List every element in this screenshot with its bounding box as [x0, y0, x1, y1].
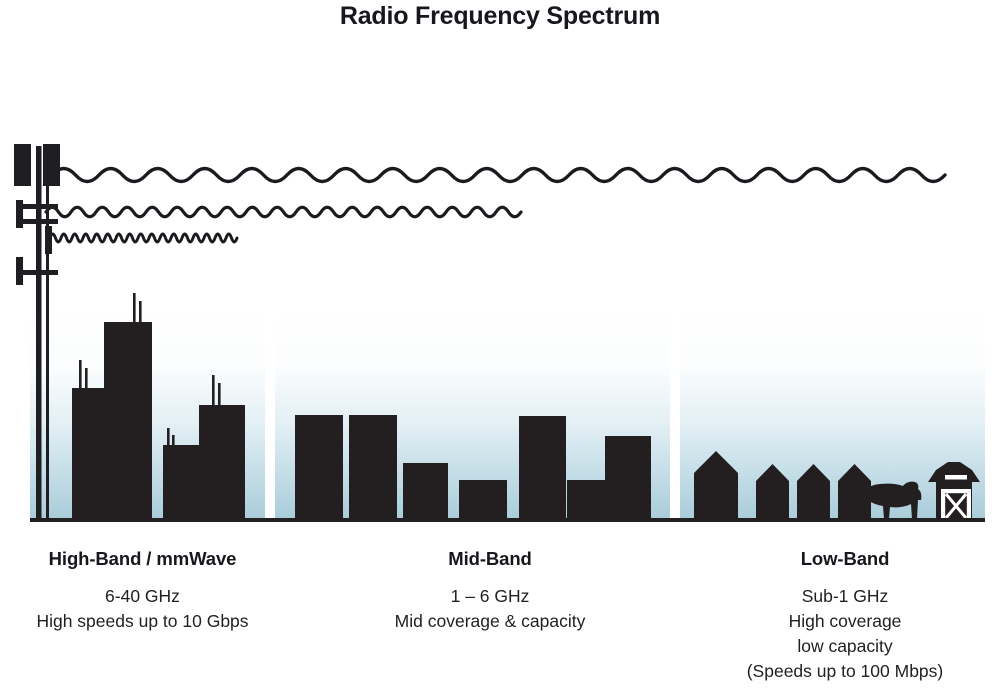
tower-mast-secondary: [46, 146, 49, 518]
building: [519, 416, 566, 520]
building: [459, 480, 507, 520]
building: [295, 415, 343, 520]
building: [567, 480, 609, 520]
rf-spectrum-infographic: Radio Frequency Spectrum: [0, 0, 1000, 700]
band-title-high: High-Band / mmWave: [0, 548, 285, 570]
band-column-mid: Mid-Band 1 – 6 GHz Mid coverage & capaci…: [345, 548, 635, 634]
tower-antenna-panel-3: [16, 200, 23, 228]
band-line: 6-40 GHz: [0, 584, 285, 609]
band-column-high: High-Band / mmWave 6-40 GHz High speeds …: [0, 548, 285, 634]
band-line: low capacity: [700, 634, 990, 659]
ground-line: [30, 518, 985, 522]
building-spire: [139, 301, 142, 324]
band-title-low: Low-Band: [700, 548, 990, 570]
tower-crossarm-3: [20, 270, 58, 275]
band-line: (Speeds up to 100 Mbps): [700, 659, 990, 684]
building: [104, 322, 152, 520]
building: [605, 436, 651, 520]
building: [199, 405, 245, 520]
band-line: 1 – 6 GHz: [345, 584, 635, 609]
tower-antenna-panel-5: [16, 257, 23, 285]
low-frequency-wave: [52, 169, 945, 182]
building-spire: [133, 293, 136, 324]
band-line: Mid coverage & capacity: [345, 609, 635, 634]
tower-crossarm-1: [20, 204, 58, 209]
building: [403, 463, 448, 520]
tower-antenna-panel-1: [14, 144, 31, 186]
band-line: High speeds up to 10 Gbps: [0, 609, 285, 634]
tower-mast: [36, 146, 42, 518]
band-line: High coverage: [700, 609, 990, 634]
building-spire: [172, 435, 175, 447]
building-spire: [79, 360, 82, 390]
tower-antenna-panel-4: [45, 226, 52, 254]
building-spire: [212, 375, 215, 407]
building-spire: [85, 368, 88, 390]
band-title-mid: Mid-Band: [345, 548, 635, 570]
building-spire: [167, 428, 170, 447]
band-column-low: Low-Band Sub-1 GHz High coverage low cap…: [700, 548, 990, 683]
band-description-high: 6-40 GHz High speeds up to 10 Gbps: [0, 584, 285, 634]
band-description-low: Sub-1 GHz High coverage low capacity (Sp…: [700, 584, 990, 683]
band-description-mid: 1 – 6 GHz Mid coverage & capacity: [345, 584, 635, 634]
building: [72, 388, 104, 520]
radio-waves: [46, 169, 945, 243]
mid-frequency-wave: [46, 207, 521, 217]
building: [349, 415, 397, 520]
band-line: Sub-1 GHz: [700, 584, 990, 609]
building: [163, 445, 199, 520]
tower-antenna-panel-2: [43, 144, 60, 186]
tower-crossarm-2: [20, 219, 58, 224]
building-spire: [218, 383, 221, 407]
high-frequency-wave: [50, 234, 237, 242]
